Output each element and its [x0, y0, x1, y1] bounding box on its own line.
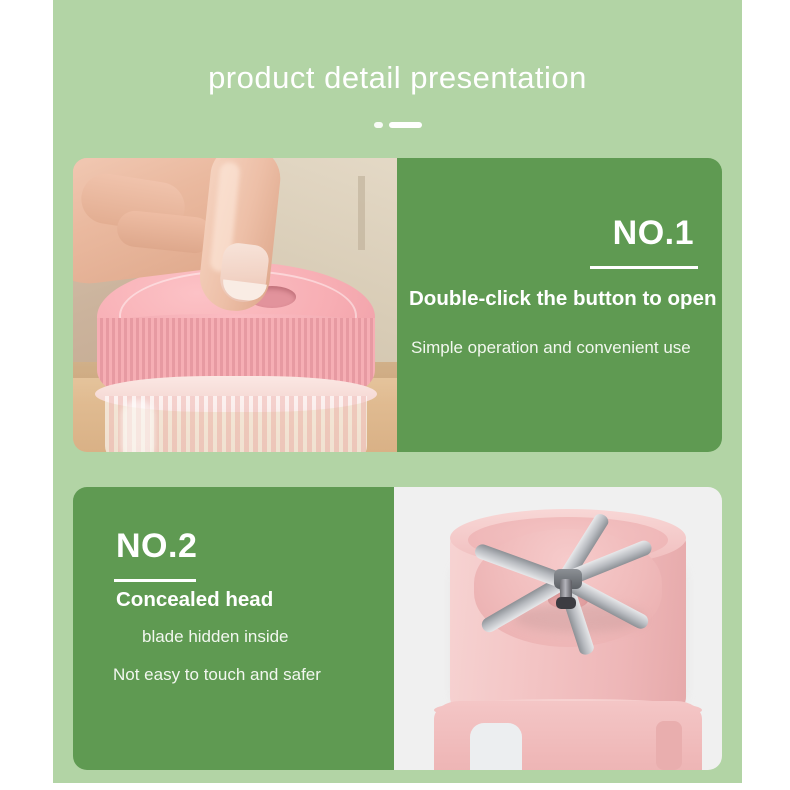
section-number-underline-no-1: [590, 266, 698, 269]
photo2-shaft-cap: [556, 597, 576, 609]
photo2-base-tab: [656, 721, 682, 770]
photo1-cup-highlight: [121, 400, 155, 452]
section-heading-no-1: Double-click the button to open: [409, 287, 716, 311]
section-line2-no-2: Not easy to touch and safer: [113, 665, 321, 685]
section-panel-no-2: NO.2 Concealed head blade hidden inside …: [73, 487, 394, 770]
divider-dot: [374, 122, 383, 128]
page-header: product detail presentation: [53, 0, 742, 158]
section-line1-no-2: blade hidden inside: [142, 627, 289, 647]
section-number-no-2: NO.2: [116, 527, 197, 566]
product-detail-page: product detail presentation: [0, 0, 790, 790]
page-title: product detail presentation: [53, 58, 742, 98]
finger-pressing-lid-photo: [73, 158, 397, 452]
section-card-no-1: NO.1 Double-click the button to open Sim…: [73, 158, 722, 452]
section-card-no-2: NO.2 Concealed head blade hidden inside …: [73, 487, 722, 770]
section-heading-no-2: Concealed head: [116, 588, 273, 612]
photo2-base-cutout: [470, 723, 522, 770]
section-panel-no-1: NO.1 Double-click the button to open Sim…: [397, 158, 722, 452]
divider-bar: [389, 122, 422, 128]
section-number-no-1: NO.1: [613, 214, 694, 253]
dash-dot-divider-icon: [53, 120, 742, 130]
concealed-blade-photo: [394, 487, 722, 770]
photo1-tile-grout-3: [358, 176, 365, 250]
section-subtext-no-1: Simple operation and convenient use: [411, 338, 691, 358]
section-number-underline-no-2: [114, 579, 196, 582]
